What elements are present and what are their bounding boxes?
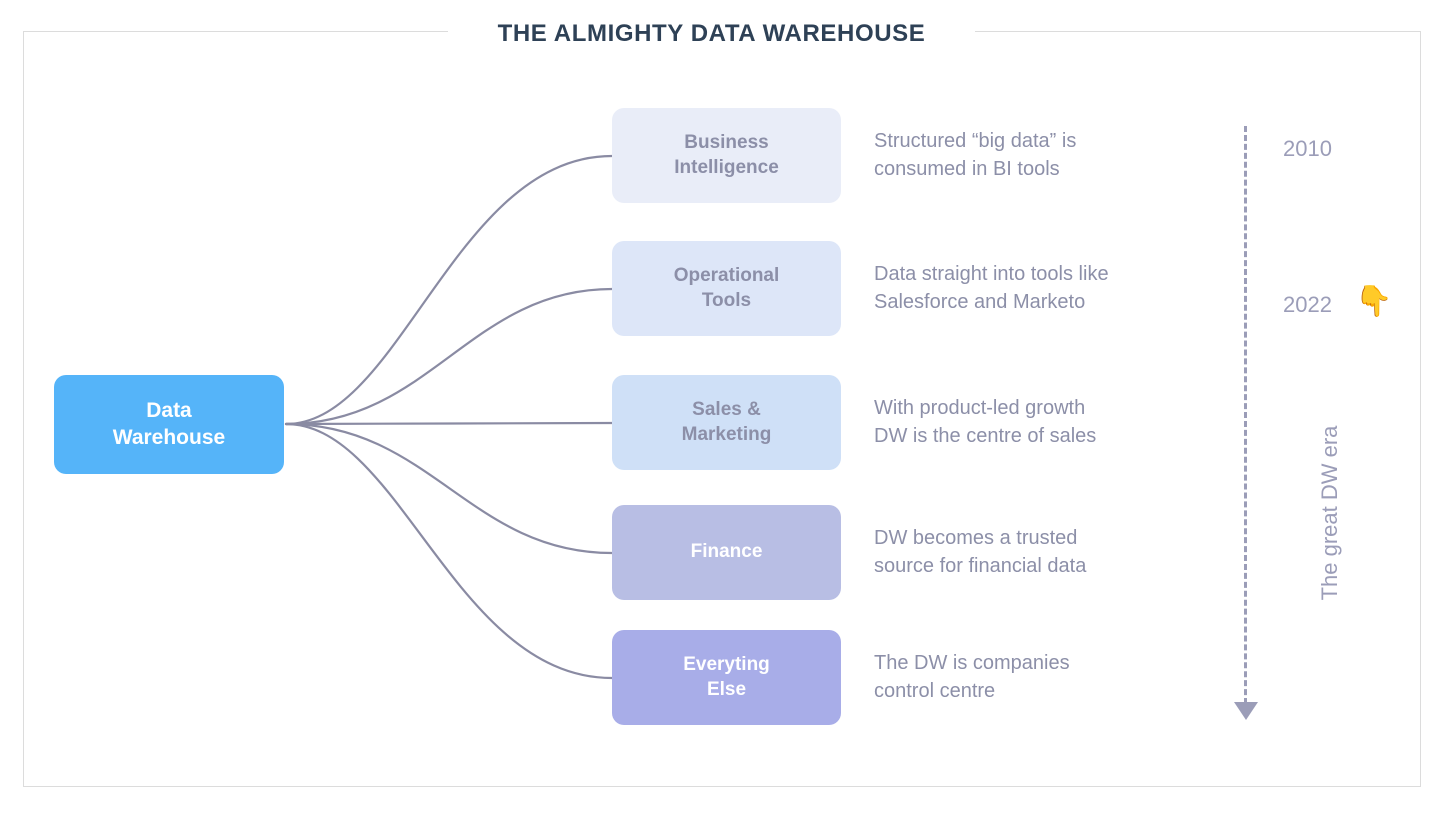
branch-desc-line1: DW becomes a trusted (874, 527, 1077, 549)
branch-label-line2: Else (707, 679, 746, 700)
branch-desc-line2: consumed in BI tools (874, 158, 1060, 180)
timeline-era-label: The great DW era (1317, 413, 1343, 613)
root-node-label-line1: Data (146, 399, 192, 422)
branch-label-line1: Everyting (683, 654, 770, 675)
branch-label-line2: Marketing (682, 424, 772, 445)
branch-description-business-intelligence: Structured “big data” is consumed in BI … (874, 108, 1294, 203)
branch-description-finance: DW becomes a trusted source for financia… (874, 505, 1294, 600)
branch-desc-line2: control centre (874, 680, 995, 702)
branch-description-sales-marketing: With product-led growth DW is the centre… (874, 375, 1294, 470)
branch-node-everything-else[interactable]: Everyting Else (612, 630, 841, 725)
branch-label-line1: Sales & (692, 399, 761, 420)
pointing-down-hand-icon: 👇 (1355, 287, 1392, 317)
branch-node-business-intelligence[interactable]: Business Intelligence (612, 108, 841, 203)
branch-desc-line2: Salesforce and Marketo (874, 291, 1085, 313)
branch-desc-line1: Structured “big data” is (874, 130, 1076, 152)
branch-desc-line1: The DW is companies (874, 652, 1070, 674)
branch-label-line1: Business (684, 132, 768, 153)
branch-description-everything-else: The DW is companies control centre (874, 630, 1294, 725)
branch-desc-line2: DW is the centre of sales (874, 425, 1096, 447)
root-node-label-line2: Warehouse (113, 426, 225, 449)
root-node-data-warehouse[interactable]: Data Warehouse (54, 375, 284, 474)
branch-node-finance[interactable]: Finance (612, 505, 841, 600)
branch-label-line1: Operational (674, 265, 780, 286)
branch-desc-line1: Data straight into tools like (874, 263, 1109, 285)
branch-node-sales-marketing[interactable]: Sales & Marketing (612, 375, 841, 470)
branch-label-line2: Intelligence (674, 157, 779, 178)
branch-node-operational-tools[interactable]: Operational Tools (612, 241, 841, 336)
page-title: THE ALMIGHTY DATA WAREHOUSE (448, 16, 975, 52)
branch-label-line1: Finance (691, 540, 763, 565)
branch-desc-line2: source for financial data (874, 555, 1086, 577)
branch-desc-line1: With product-led growth (874, 397, 1085, 419)
branch-label-line2: Tools (702, 290, 751, 311)
branch-description-operational-tools: Data straight into tools like Salesforce… (874, 241, 1294, 336)
